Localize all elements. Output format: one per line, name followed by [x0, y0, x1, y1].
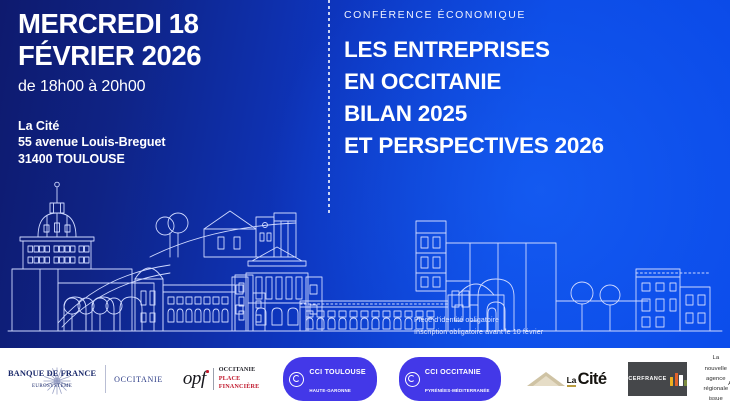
la-cite-wordmark: La Cité [567, 371, 607, 388]
la-cite-name: Cité [578, 371, 607, 388]
venue-street: 55 avenue Louis-Breguet [18, 134, 318, 151]
bdf-region: OCCITANIE [114, 375, 163, 384]
venue-city: 31400 TOULOUSE [18, 151, 318, 168]
event-venue: La Cité 55 avenue Louis-Breguet 31400 TO… [18, 118, 318, 168]
page-title: LES ENTREPRISES EN OCCITANIE BILAN 2025 … [344, 34, 722, 162]
cci-occitanie-line-2: PYRÉNÉES-MÉDITERRANÉE [425, 388, 490, 393]
event-time: de 18h00 à 20h00 [18, 77, 318, 96]
bdf-subtitle: EUROSYSTÈME [8, 384, 96, 389]
cci-swirl-icon [405, 372, 420, 387]
agency-tagline: La nouvelle agence régionale issue de la… [703, 348, 730, 410]
logo-cci-toulouse-haute-garonne: CCI TOULOUSE HAUTE-GARONNE [283, 357, 376, 401]
note-line-1: Pièce d'identité obligatoire [414, 314, 543, 326]
logo-occitanie-place-financiere: opf OCCITANIE PLACE FINANCIÈRE [183, 366, 259, 392]
vertical-dotted-divider [328, 0, 330, 216]
building-belfry [416, 221, 446, 291]
event-date-line-2: FÉVRIER 2026 [18, 40, 318, 72]
event-eyebrow: CONFÉRENCE ÉCONOMIQUE [344, 9, 722, 21]
la-cite-roof-icon [525, 371, 567, 386]
logo-cci-occitanie: CCI OCCITANIE PYRÉNÉES-MÉDITERRANÉE [399, 357, 501, 401]
opf-line-1: OCCITANIE [219, 366, 260, 375]
partner-logo-bar: BANQUE DE FRANCE EUROSYSTÈME OCCITANIE o… [0, 348, 730, 410]
tagline-line-1: La nouvelle agence régionale issue [703, 353, 728, 405]
cerfrance-bars-icon [670, 373, 688, 386]
venue-name: La Cité [18, 118, 318, 135]
opf-wordmark: opf [183, 369, 206, 388]
registration-note: Pièce d'identité obligatoire Inscription… [414, 314, 543, 337]
bdf-name: BANQUE DE FRANCE [8, 369, 96, 378]
building-dome-left [20, 182, 94, 269]
opf-dot-icon [206, 370, 209, 373]
la-cite-prefix: La [567, 376, 577, 388]
bdf-wordmark: BANQUE DE FRANCE EUROSYSTÈME [8, 369, 105, 389]
event-details-column: MERCREDI 18 FÉVRIER 2026 de 18h00 à 20h0… [18, 8, 318, 167]
cci-toulouse-line-1: CCI TOULOUSE [309, 368, 365, 376]
trees-right [571, 282, 620, 331]
opf-text: OCCITANIE PLACE FINANCIÈRE [219, 366, 260, 392]
logo-cerfrance: CERFRANCE [628, 362, 687, 396]
opf-divider [213, 368, 214, 390]
logo-banque-de-france: BANQUE DE FRANCE EUROSYSTÈME OCCITANIE [8, 365, 163, 393]
event-date-line-1: MERCREDI 18 [18, 8, 318, 40]
trees-upper [156, 213, 188, 257]
building-long-wing [163, 285, 235, 331]
title-line-2: EN OCCITANIE [344, 66, 722, 98]
cci-toulouse-text: CCI TOULOUSE HAUTE-GARONNE [309, 361, 365, 397]
toulouse-skyline-illustration [0, 173, 730, 348]
title-line-1: LES ENTREPRISES [344, 34, 722, 66]
title-line-3: BILAN 2025 [344, 98, 722, 130]
logo-la-cite: La Cité [525, 371, 607, 388]
cci-occitanie-line-1: CCI OCCITANIE [425, 368, 481, 376]
hero-panel: MERCREDI 18 FÉVRIER 2026 de 18h00 à 20h0… [0, 0, 730, 348]
cerfrance-wordmark: CERFRANCE [628, 376, 666, 382]
note-line-2: Inscription obligatoire avant le 10 févr… [414, 326, 543, 338]
title-line-4: ET PERSPECTIVES 2026 [344, 130, 722, 162]
cci-occitanie-text: CCI OCCITANIE PYRÉNÉES-MÉDITERRANÉE [425, 361, 490, 397]
opf-line-3: FINANCIÈRE [219, 383, 260, 392]
event-title-column: CONFÉRENCE ÉCONOMIQUE LES ENTREPRISES EN… [344, 9, 722, 162]
cci-swirl-icon [289, 372, 304, 387]
building-right-end [636, 269, 710, 331]
event-poster: MERCREDI 18 FÉVRIER 2026 de 18h00 à 20h0… [0, 0, 730, 410]
cci-toulouse-line-2: HAUTE-GARONNE [309, 388, 351, 393]
bdf-divider [105, 365, 106, 393]
